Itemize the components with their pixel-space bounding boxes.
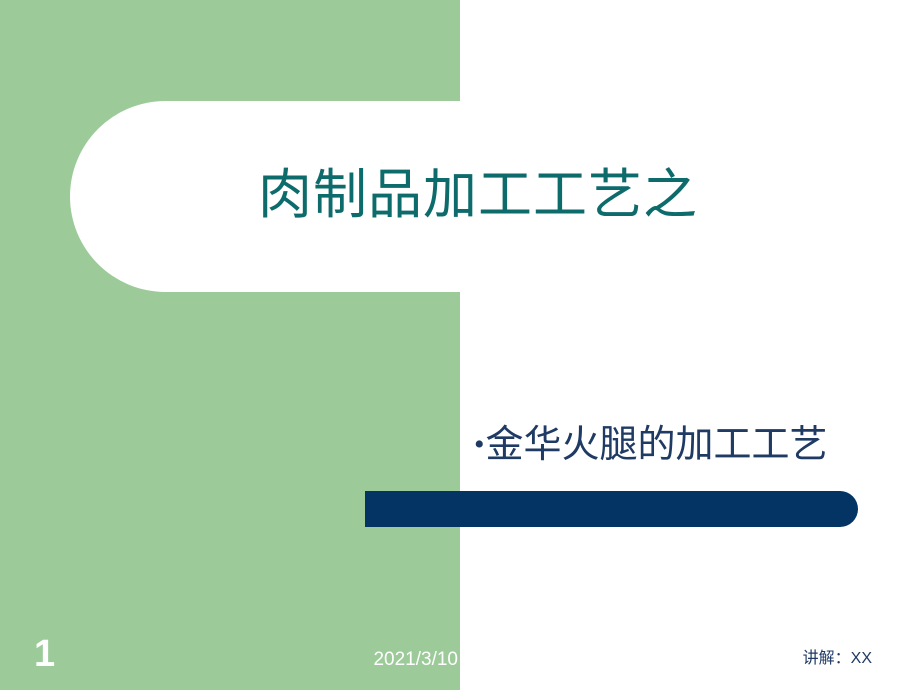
footer-presenter: 讲解：XX <box>660 648 872 670</box>
slide-title: 肉制品加工工艺之 <box>258 163 898 227</box>
page-number: 1 <box>34 633 55 675</box>
bullet-icon: • <box>474 428 485 461</box>
footer-date: 2021/3/10 <box>260 648 458 672</box>
slide-subtitle-text: 金华火腿的加工工艺 <box>486 424 828 466</box>
accent-bar-shape <box>365 491 858 527</box>
presentation-slide: 肉制品加工工艺之 •金华火腿的加工工艺 1 2021/3/10 讲解：XX <box>0 0 920 690</box>
slide-subtitle: •金华火腿的加工工艺 <box>474 420 904 470</box>
